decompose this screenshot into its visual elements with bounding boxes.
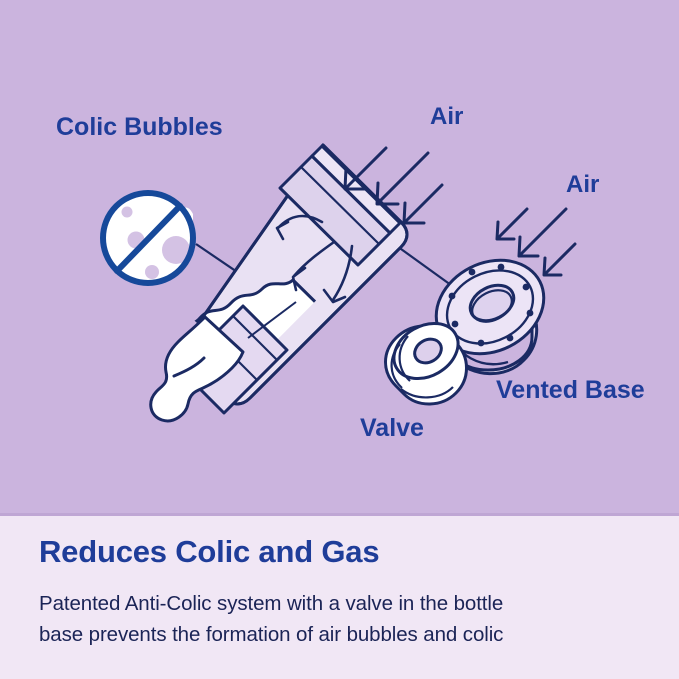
air-arrow-icon — [377, 153, 428, 204]
air-arrow-icon — [345, 148, 386, 189]
caption-title: Reduces Colic and Gas — [39, 534, 379, 570]
label-colic-bubbles: Colic Bubbles — [56, 113, 223, 141]
air-arrow-icon — [519, 209, 566, 256]
bubble-4 — [122, 207, 133, 218]
infographic-root: Colic Bubbles Air Air Valve Vented Base … — [0, 0, 679, 679]
air-arrow-icon — [497, 209, 527, 239]
label-valve: Valve — [360, 414, 424, 442]
caption-body: Patented Anti-Colic system with a valve … — [39, 588, 649, 650]
bubble-3 — [145, 265, 159, 279]
air-arrow-icon — [404, 185, 442, 223]
caption-body-line-2: base prevents the formation of air bubbl… — [39, 619, 649, 650]
air-arrow-icon — [544, 244, 575, 275]
anti-colic-diagram: Colic Bubbles Air Air Valve Vented Base — [0, 0, 679, 516]
no-bubbles-icon — [103, 193, 193, 283]
label-vented-base: Vented Base — [496, 376, 645, 404]
label-air-right: Air — [566, 171, 599, 198]
caption-body-line-1: Patented Anti-Colic system with a valve … — [39, 588, 649, 619]
label-air-top: Air — [430, 103, 463, 130]
baby-bottle-icon — [151, 145, 420, 421]
